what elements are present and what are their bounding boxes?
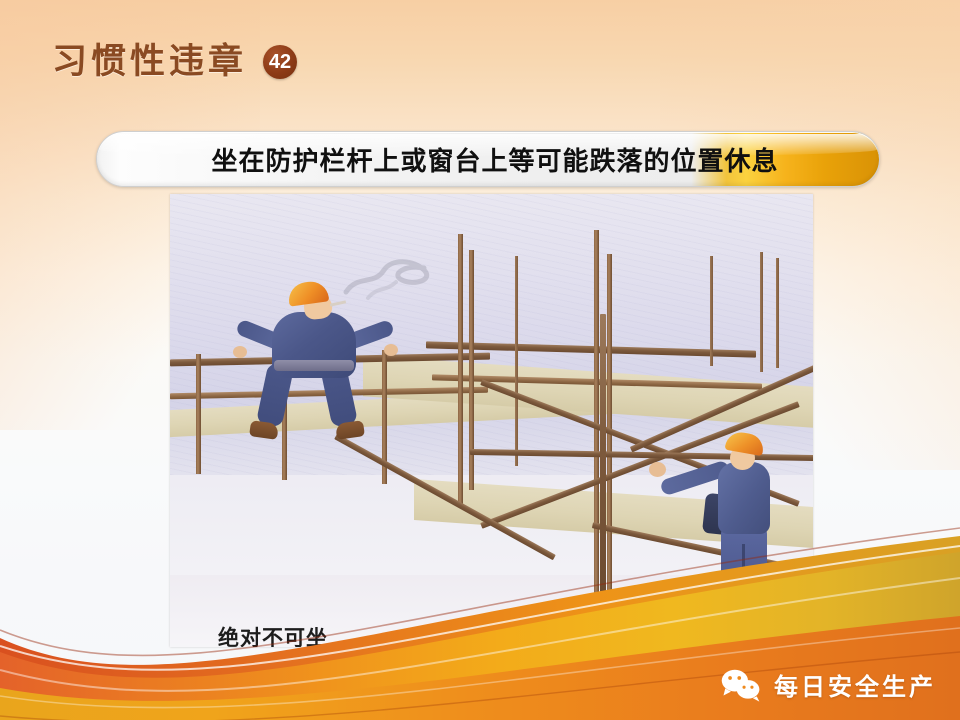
headline-text: 坐在防护栏杆上或窗台上等可能跌落的位置休息 <box>97 141 879 178</box>
worker2-leg-split <box>742 544 745 602</box>
scaffold-brace-vertical-cross <box>600 314 606 604</box>
headline-banner: 坐在防护栏杆上或窗台上等可能跌落的位置休息 <box>96 131 880 187</box>
page-title-row: 习惯性违章 42 <box>52 44 297 79</box>
scaffold-thin-post-3 <box>760 252 763 372</box>
worker2-hand <box>649 462 666 477</box>
slide-canvas: 习惯性违章 42 坐在防护栏杆上或窗台上等可能跌落的位置休息 <box>0 0 960 720</box>
title-number-badge: 42 <box>263 45 297 79</box>
cigarette-smoke-icon <box>340 252 460 308</box>
page-title: 习惯性违章 <box>52 44 247 79</box>
wechat-icon <box>720 668 762 702</box>
worker2-torso <box>718 462 770 534</box>
illustration-caption: 绝对不可坐 <box>218 622 328 647</box>
illustration-panel: 绝对不可坐 <box>170 194 813 647</box>
worker1-hand-left <box>233 346 247 358</box>
scaffold-post-6 <box>594 230 599 610</box>
worker1-hand-right <box>384 344 398 356</box>
worker2-boot-left <box>708 598 738 614</box>
scaffold-thin-post-2 <box>710 256 713 366</box>
worker2-boot-right <box>744 598 774 614</box>
footer-brand-text: 每日安全生产 <box>774 667 936 702</box>
scaffold-thin-post-4 <box>776 258 779 368</box>
scaffold-thin-post-1 <box>515 256 518 466</box>
footer-brand: 每日安全生产 <box>720 667 936 702</box>
scaffold-post-1 <box>196 354 201 474</box>
worker1-tool-belt <box>274 360 354 371</box>
